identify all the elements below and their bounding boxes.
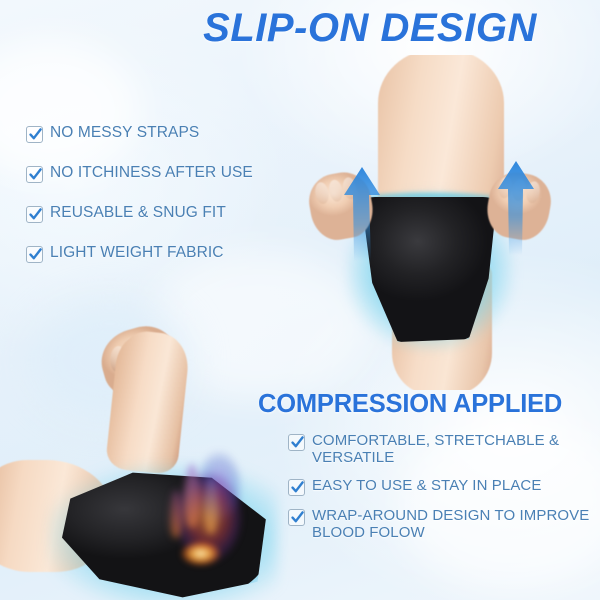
list-item: NO ITCHINESS AFTER USE	[26, 164, 294, 183]
list-item-label: NO MESSY STRAPS	[50, 124, 199, 142]
heat-glow	[140, 450, 272, 590]
up-arrow-right-icon	[496, 159, 536, 255]
checkbox-checked-icon	[26, 166, 43, 183]
checkbox-checked-icon	[26, 206, 43, 223]
checkbox-checked-icon	[288, 434, 305, 451]
infographic-page: SLIP-ON DESIGN NO MESSY STRAPS NO ITCHIN…	[0, 0, 600, 600]
page-title: SLIP-ON DESIGN	[160, 6, 580, 51]
elbow-sleeve-photo	[0, 320, 290, 600]
compression-feature-list: COMFORTABLE, STRETCHABLE & VERSATILE EAS…	[288, 432, 600, 552]
list-item: EASY TO USE & STAY IN PLACE	[288, 477, 600, 496]
checkbox-checked-icon	[288, 509, 305, 526]
section-title-compression: COMPRESSION APPLIED	[258, 390, 600, 419]
checkbox-checked-icon	[26, 126, 43, 143]
checkbox-checked-icon	[26, 246, 43, 263]
list-item: WRAP-AROUND DESIGN TO IMPROVE BLOOD FOLO…	[288, 507, 600, 541]
up-arrow-left-icon	[342, 165, 382, 261]
list-item-label: LIGHT WEIGHT FABRIC	[50, 244, 224, 262]
list-item: LIGHT WEIGHT FABRIC	[26, 244, 294, 263]
list-item-label: COMFORTABLE, STRETCHABLE & VERSATILE	[312, 432, 600, 466]
knee-sleeve-photo	[300, 55, 600, 390]
slip-on-feature-list: NO MESSY STRAPS NO ITCHINESS AFTER USE R…	[26, 124, 294, 284]
list-item-label: EASY TO USE & STAY IN PLACE	[312, 477, 541, 494]
list-item: NO MESSY STRAPS	[26, 124, 294, 143]
list-item-label: WRAP-AROUND DESIGN TO IMPROVE BLOOD FOLO…	[312, 507, 600, 541]
list-item: REUSABLE & SNUG FIT	[26, 204, 294, 223]
checkbox-checked-icon	[288, 479, 305, 496]
list-item-label: REUSABLE & SNUG FIT	[50, 204, 226, 222]
list-item-label: NO ITCHINESS AFTER USE	[50, 164, 253, 182]
list-item: COMFORTABLE, STRETCHABLE & VERSATILE	[288, 432, 600, 466]
